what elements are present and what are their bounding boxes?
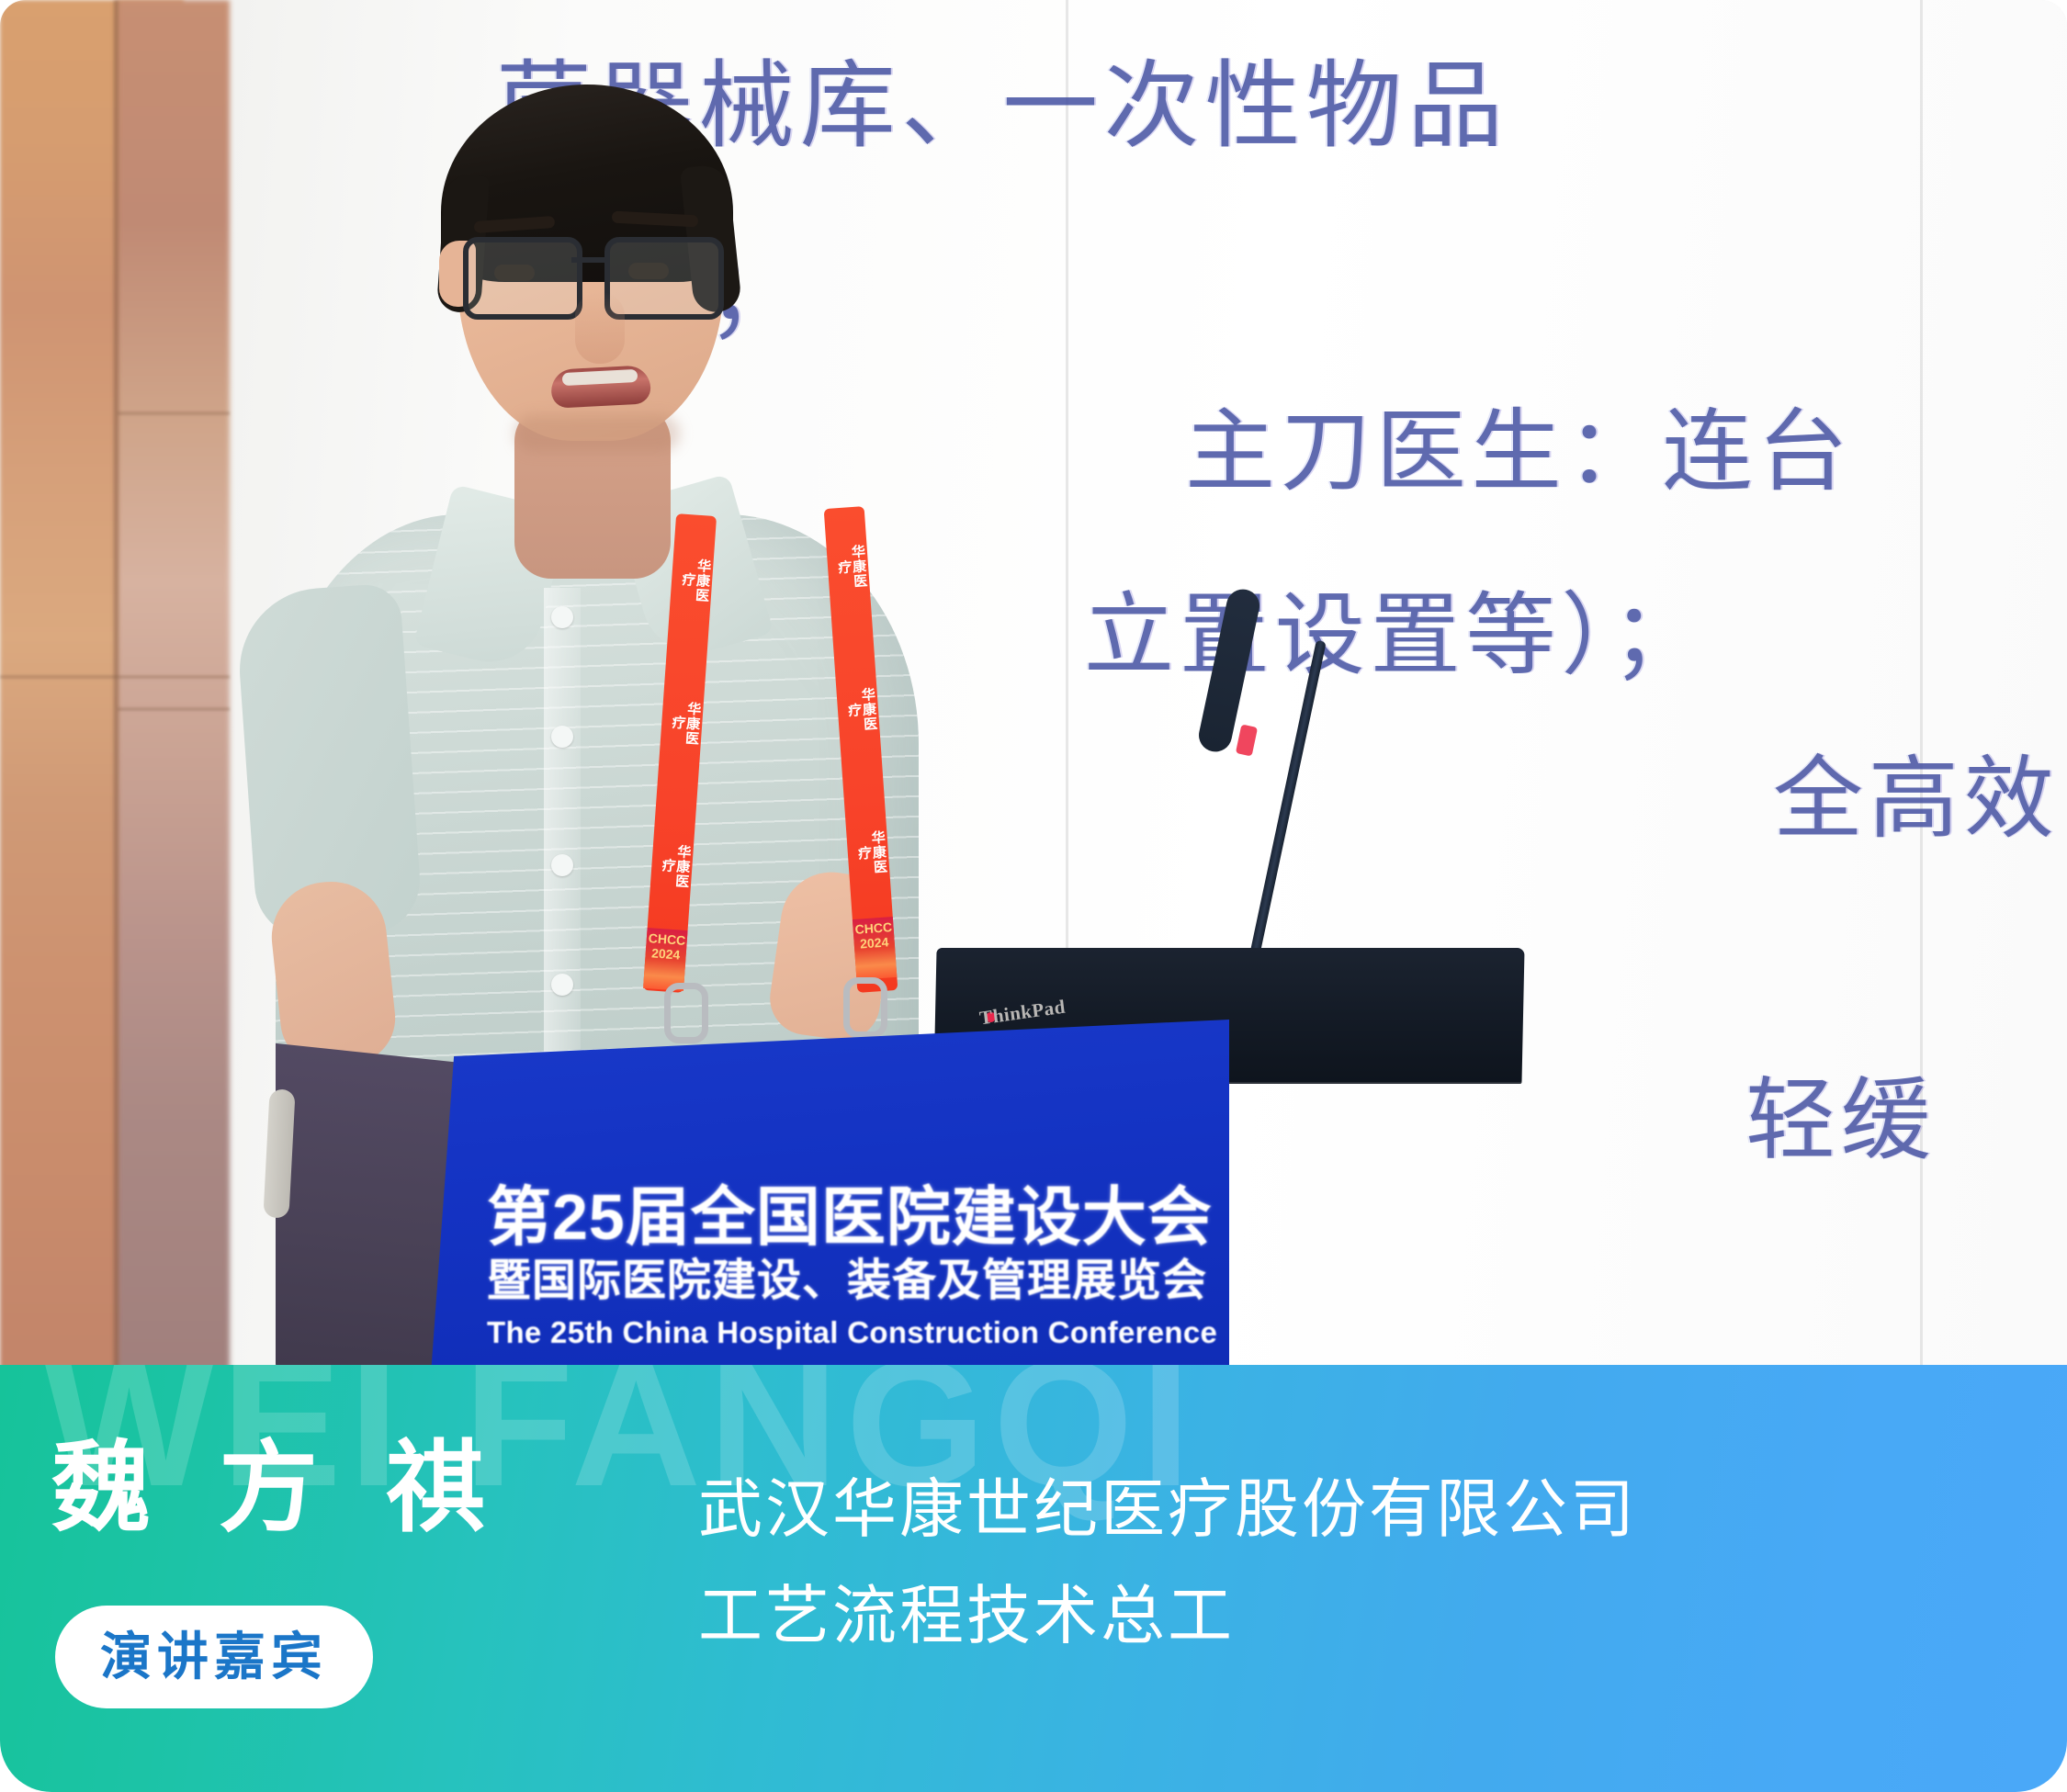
role-badge-label: 演讲嘉宾 <box>100 1631 328 1683</box>
eyeglass-lens-left <box>463 237 582 320</box>
speaker-chin-shadow <box>514 415 680 452</box>
badge-clip-right <box>843 977 887 1038</box>
slide-text-line-5: 全高效 <box>1773 726 2060 856</box>
laptop-brand-label: ThinkPad <box>978 996 1067 1031</box>
slide-text-line-6: 轻缓 <box>1745 1047 1937 1178</box>
podium-conference-sign: 第25届全国医院建设大会 暨国际医院建设、装备及管理展览会 The 25th C… <box>487 1185 1222 1350</box>
affiliation-company: 武汉华康世纪医疗股份有限公司 <box>698 1477 1637 1541</box>
shirt-button <box>551 606 573 628</box>
badge-clip-left <box>664 983 708 1043</box>
conference-subtitle-cn: 暨国际医院建设、装备及管理展览会 <box>487 1255 1222 1309</box>
shirt-button <box>551 854 573 876</box>
conference-title-cn: 第25届全国医院建设大会 <box>487 1185 1222 1249</box>
lanyard-event-year: 2024 <box>855 935 893 952</box>
slide-text-line-3: 主刀医生：连台 <box>1185 378 1853 509</box>
shirt-button <box>551 726 573 748</box>
conference-title-en: The 25th China Hospital Construction Con… <box>487 1314 1222 1351</box>
lanyard-brand-text: 华康医疗 <box>839 681 877 739</box>
speaker-card: 菌器械库、一次性物品 等）； 主刀医生：连台 立置设置等）； 全高效 轻缓 <box>0 0 2067 1792</box>
slide-text-line-4: 立置设置等）； <box>1084 562 1707 693</box>
speaker-nose <box>575 292 625 364</box>
wall-panel-seam <box>118 707 230 711</box>
lanyard-brand-text: 华康医疗 <box>829 537 867 596</box>
affiliation-title: 工艺流程技术总工 <box>698 1583 1235 1648</box>
wall-panel-seam <box>0 675 230 679</box>
speaker-photo: 菌器械库、一次性物品 等）； 主刀医生：连台 立置设置等）； 全高效 轻缓 <box>0 0 2067 1387</box>
wall-panel-seam <box>118 411 230 415</box>
speaker-name: 魏 方 祺 <box>51 1438 505 1538</box>
wall-panel-groove <box>112 0 120 1387</box>
eyeglass-bridge <box>571 257 608 263</box>
wall-marble-panel <box>118 0 230 1387</box>
speaker-info-banner: WEI FANGQI 魏 方 祺 演讲嘉宾 武汉华康世纪医疗股份有限公司 工艺流… <box>0 1365 2067 1792</box>
lanyard-brand-text: 华康医疗 <box>849 823 887 882</box>
wall-seam <box>1920 0 1923 1387</box>
role-badge: 演讲嘉宾 <box>55 1606 373 1708</box>
lanyard-brand-text: 华康医疗 <box>652 836 691 895</box>
lanyard-brand-text: 华康医疗 <box>662 693 701 752</box>
lanyard-event-year: 2024 <box>647 946 684 963</box>
lanyard-brand-text: 华康医疗 <box>672 550 711 609</box>
shirt-button <box>551 974 573 996</box>
